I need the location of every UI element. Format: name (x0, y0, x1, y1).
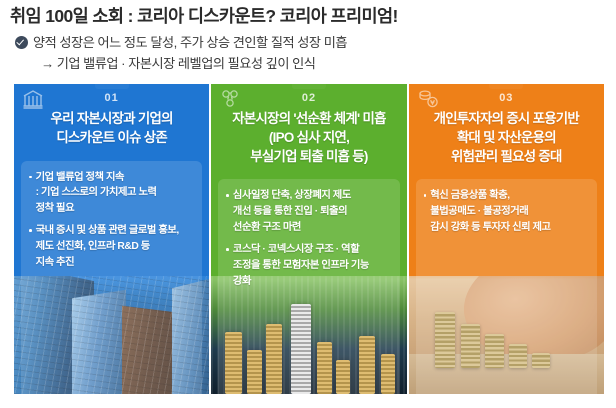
card-01-number: 01 (22, 92, 201, 104)
card-03-head: 03 개인투자자의 증시 포용기반 확대 및 자산운용의 위험관리 필요성 증대 (409, 84, 604, 175)
card-02-title: 자본시장의 '선순환 체계' 미흡 (IPO 심사 지연, 부실기업 퇴출 미흡… (219, 110, 398, 166)
card-02-body: 심사일정 단축, 상장폐지 제도 개선 등을 통한 진입 · 퇴출의 선순환 구… (218, 179, 399, 394)
bullet-dot-icon (29, 176, 32, 179)
arrow-right-icon: → (41, 56, 54, 71)
won-circulation-icon (218, 87, 242, 111)
list-item: 혁신 금융상품 확충, 불법공매도 · 불공정거래 감시 강화 등 투자자 신뢰… (424, 188, 590, 235)
card-02-head: 02 자본시장의 '선순환 체계' 미흡 (IPO 심사 지연, 부실기업 퇴출… (211, 84, 406, 175)
card-03-title: 개인투자자의 증시 포용기반 확대 및 자산운용의 위험관리 필요성 증대 (417, 110, 596, 166)
card-03-number: 03 (417, 92, 596, 104)
page-title: 취임 100일 소회 : 코리아 디스카운트? 코리아 프리미엄! (10, 6, 606, 28)
summary-arrow-text: 기업 밸류업 · 자본시장 레벨업의 필요성 깊이 인식 (57, 56, 316, 71)
card-01[interactable]: 01 우리 자본시장과 기업의 디스카운트 이슈 상존 기업 밸류업 정책 지속… (14, 84, 209, 394)
list-item: 심사일정 단축, 상장폐지 제도 개선 등을 통한 진입 · 퇴출의 선순환 구… (226, 188, 392, 235)
card-02[interactable]: 02 자본시장의 '선순환 체계' 미흡 (IPO 심사 지연, 부실기업 퇴출… (211, 84, 406, 394)
card-01-head: 01 우리 자본시장과 기업의 디스카운트 이슈 상존 (14, 84, 209, 157)
list-item: 기업 밸류업 정책 지속 : 기업 스스로의 가치제고 노력 정착 필요 (29, 170, 195, 217)
header: 취임 100일 소회 : 코리아 디스카운트? 코리아 프리미엄! 양적 성장은… (0, 0, 616, 73)
summary-arrow-row: →기업 밸류업 · 자본시장 레벨업의 필요성 깊이 인식 (10, 54, 606, 73)
card-03-body: 혁신 금융상품 확충, 불법공매도 · 불공정거래 감시 강화 등 투자자 신뢰… (416, 179, 597, 394)
card-01-body: 기업 밸류업 정책 지속 : 기업 스스로의 가치제고 노력 정착 필요 국내 … (21, 161, 202, 394)
bank-building-icon (21, 87, 45, 111)
card-02-number: 02 (219, 92, 398, 104)
list-item: 코스닥 · 코넥스시장 구조 · 역할 조정을 통한 모험자본 인프라 기능 강… (226, 242, 392, 289)
coin-savings-icon (416, 87, 440, 111)
subtitle-block: 양적 성장은 어느 정도 달성, 주가 상승 견인할 질적 성장 미흡 →기업 … (10, 33, 606, 73)
summary-bullet-text: 양적 성장은 어느 정도 달성, 주가 상승 견인할 질적 성장 미흡 (33, 33, 347, 52)
infographic-page: 취임 100일 소회 : 코리아 디스카운트? 코리아 프리미엄! 양적 성장은… (0, 0, 616, 408)
bullet-dot-icon (226, 248, 229, 251)
bullet-dot-icon (226, 194, 229, 197)
card-row: 01 우리 자본시장과 기업의 디스카운트 이슈 상존 기업 밸류업 정책 지속… (14, 84, 604, 394)
bullet-dot-icon (29, 229, 32, 232)
summary-bullet-row: 양적 성장은 어느 정도 달성, 주가 상승 견인할 질적 성장 미흡 (10, 33, 606, 52)
card-01-title: 우리 자본시장과 기업의 디스카운트 이슈 상존 (22, 110, 201, 148)
check-circle-icon (15, 36, 28, 49)
list-item: 국내 증시 및 상품 관련 글로벌 홍보, 제도 선진화, 인프라 R&D 등 … (29, 223, 195, 270)
bullet-dot-icon (424, 194, 427, 197)
card-03[interactable]: 03 개인투자자의 증시 포용기반 확대 및 자산운용의 위험관리 필요성 증대… (409, 84, 604, 394)
